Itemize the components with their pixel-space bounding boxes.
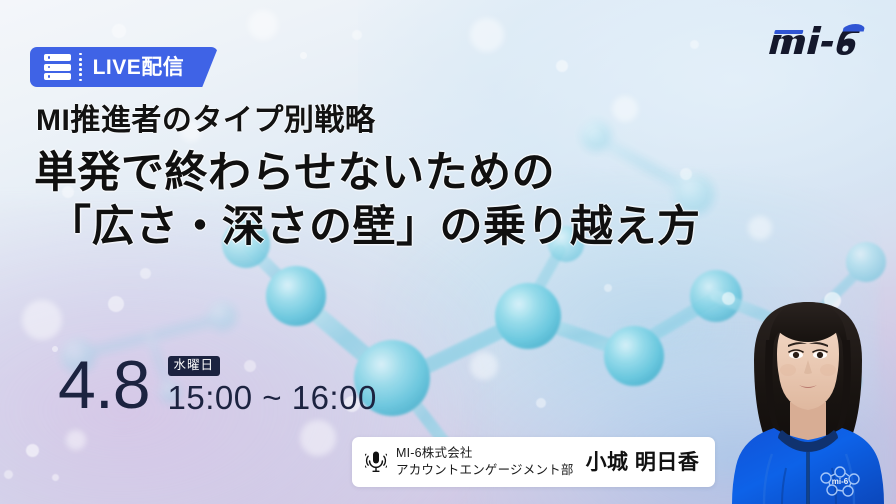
mi6-logo [758, 18, 878, 62]
microphone-icon [365, 450, 387, 474]
day-of-week-badge: 水曜日 [168, 356, 221, 377]
presenter-photo: mi-6 [720, 282, 896, 504]
svg-text:mi-6: mi-6 [832, 477, 849, 486]
live-badge-label: LIVE配信 [93, 57, 185, 78]
speaker-organization: MI-6株式会社 アカウントエンゲージメント部 [396, 445, 574, 479]
webinar-banner: LIVE配信 MI推進者のタイプ別戦略 単発で終わらせないための 「広さ・深さの… [0, 0, 896, 504]
title-line-2: 「広さ・深さの壁」の乗り越え方 [0, 203, 760, 251]
speaker-card: MI-6株式会社 アカウントエンゲージメント部 小城 明日香 [352, 437, 715, 487]
subtitle: MI推進者のタイプ別戦略 [0, 104, 760, 137]
live-badge: LIVE配信 [30, 47, 218, 87]
title-block: MI推進者のタイプ別戦略 単発で終わらせないための 「広さ・深さの壁」の乗り越え… [0, 104, 760, 251]
speaker-company: MI-6株式会社 [396, 445, 574, 462]
speaker-department: アカウントエンゲージメント部 [396, 462, 574, 479]
time-column: 水曜日 15:00 ~ 16:00 [168, 356, 377, 417]
schedule-block: 4.8 水曜日 15:00 ~ 16:00 [58, 356, 377, 417]
speaker-name: 小城 明日香 [586, 452, 700, 473]
dotted-separator-icon [79, 53, 82, 82]
event-time-range: 15:00 ~ 16:00 [168, 381, 377, 414]
event-date: 4.8 [58, 356, 150, 416]
server-stack-icon [44, 54, 71, 80]
title-line-1: 単発で終わらせないための [0, 149, 760, 197]
